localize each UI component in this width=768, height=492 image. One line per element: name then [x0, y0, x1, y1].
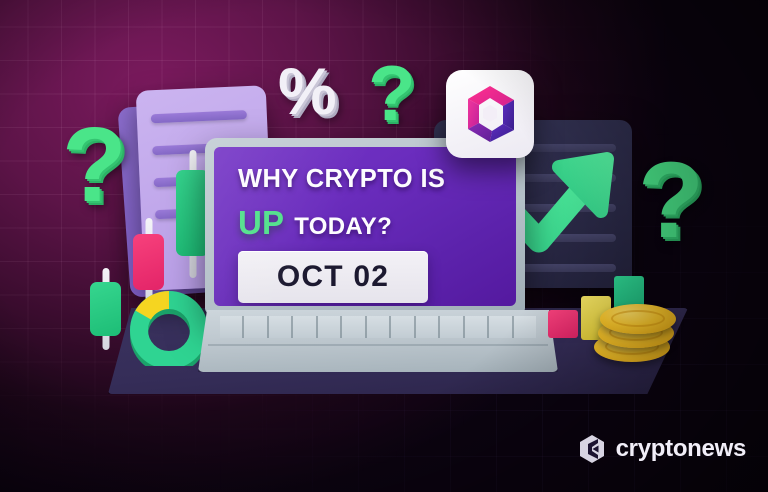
candlestick-green-left: [90, 268, 121, 350]
laptop-screen: WHY CRYPTO IS UP TODAY? OCT 02: [214, 147, 516, 306]
laptop-lid: WHY CRYPTO IS UP TODAY? OCT 02: [205, 138, 525, 314]
mini-bar-pink: [548, 310, 578, 338]
brand-badge: [446, 70, 534, 158]
coin-top: [600, 304, 676, 334]
question-mark-left-icon: ?: [62, 112, 127, 218]
headline-line-1: WHY CRYPTO IS: [238, 167, 516, 193]
headline-line-2: TODAY?: [294, 215, 392, 239]
question-mark-right-icon: ?: [638, 146, 704, 254]
watermark-label: cryptonews: [616, 435, 746, 463]
date-badge-label: OCT 02: [277, 260, 389, 294]
keyboard-key-row: [220, 316, 536, 338]
hexagon-logo-icon: [459, 83, 521, 145]
thumbnail-canvas: WHY CRYPTO IS UP TODAY? OCT 02 ? ? ? %: [0, 0, 768, 492]
laptop-keyboard-base: [198, 310, 558, 372]
hexagon-c-icon: [577, 434, 607, 464]
question-mark-top-icon: ?: [368, 54, 416, 132]
date-badge: OCT 02: [238, 251, 428, 303]
headline-highlight-up: UP: [238, 206, 284, 239]
watermark: cryptonews: [577, 434, 746, 464]
percent-sign-icon: %: [278, 58, 337, 124]
donut-chart: [128, 288, 210, 366]
